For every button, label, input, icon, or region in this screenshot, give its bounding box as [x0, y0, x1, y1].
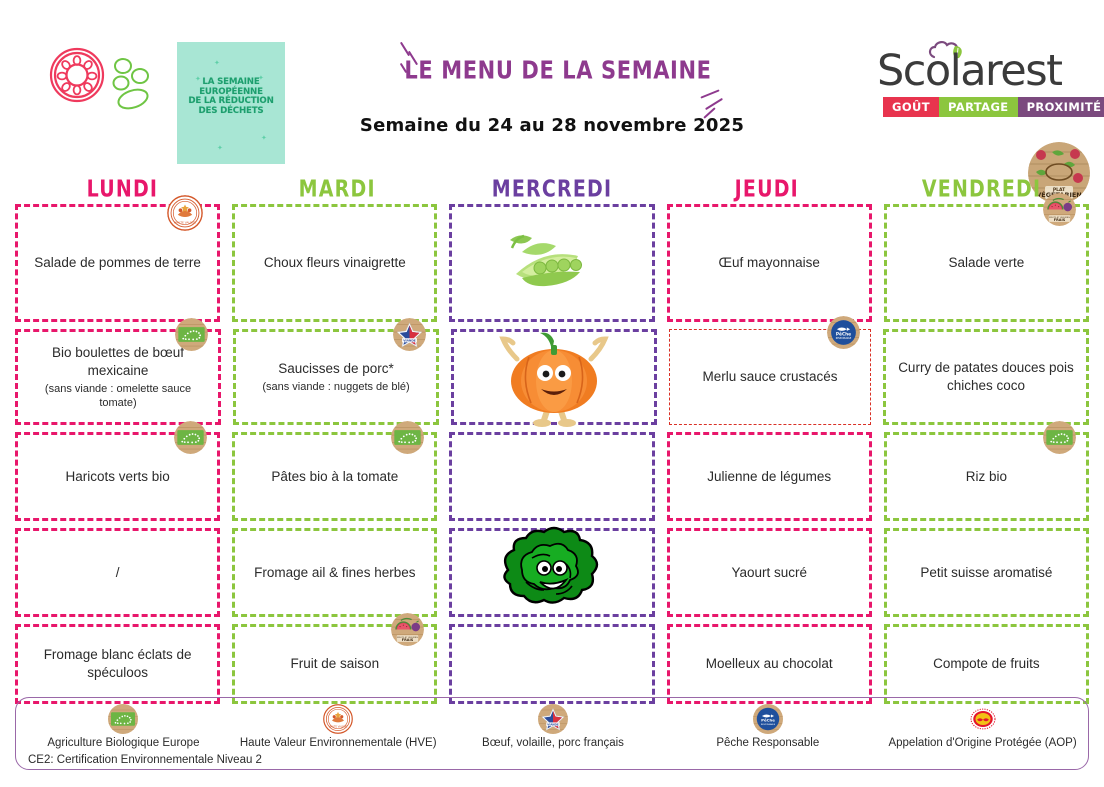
serd-poster: ✦ ✦ ✦ ✦ ✦ LA SEMAINE EUROPÉENNE DE LA RÉ… [177, 42, 285, 164]
menu-cell-mardi-2[interactable]: Saucisses de porc*(sans viande : nuggets… [233, 329, 439, 425]
menu-cell-jeudi-5[interactable]: Moelleux au chocolat [667, 624, 872, 704]
legend-note: CE2: Certification Environnementale Nive… [28, 754, 262, 766]
menu-cell-mercredi-2[interactable] [451, 329, 657, 425]
menu-cell-lundi-2[interactable]: Bio boulettes de bœuf mexicaine(sans via… [15, 329, 221, 425]
menu-row: Fromage blanc éclats de spéculoosFruit d… [15, 624, 1089, 704]
peche-responsable-icon: PêCheRESPONSABLE [827, 316, 860, 349]
logo-tag-gout: GOÛT [883, 97, 939, 117]
legend-item: Appelation d'Origine Protégée (AOP) [875, 704, 1090, 749]
legend-item: HAUTE VALEUR Haute Valeur Environnementa… [231, 704, 446, 749]
menu-grid: Salade de pommes de terreHAUTE VALEURCho… [15, 204, 1089, 688]
week-subtitle: Semaine du 24 au 28 novembre 2025 [288, 115, 816, 136]
menu-cell-mercredi-5[interactable] [449, 624, 654, 704]
hve-icon: HAUTE VALEUR [167, 195, 203, 231]
pumpkin-image [489, 323, 619, 432]
peche-responsable-icon: PêCheRESPONSABLE [749, 704, 787, 734]
poster-line: DES DÉCHETS [177, 107, 285, 117]
menu-item-text: Saucisses de porc*(sans viande : nuggets… [254, 360, 417, 394]
menu-item-text: Choux fleurs vinaigrette [256, 254, 414, 272]
legend-label: Pêche Responsable [660, 737, 875, 749]
menu-item-text: Riz bio [958, 468, 1015, 486]
poster-star-icon: ✦ [261, 134, 267, 142]
svg-text:RESPONSABLE: RESPONSABLE [836, 337, 852, 340]
poster-star-icon: ✦ [217, 144, 223, 152]
legend-item: Agriculture Biologique Europe [16, 704, 231, 749]
page-title: LE MENU DE LA SEMAINE [388, 56, 728, 84]
menu-item-text: Moelleux au chocolat [698, 655, 841, 673]
bio-icon [1043, 421, 1076, 454]
page-header: ✦ ✦ ✦ ✦ ✦ LA SEMAINE EUROPÉENNE DE LA RÉ… [0, 0, 1104, 170]
svg-text:PêChe: PêChe [761, 718, 775, 723]
menu-cell-mardi-1[interactable]: Choux fleurs vinaigrette [232, 204, 437, 322]
cabbage-image [488, 524, 616, 621]
pumpkin-image [489, 323, 619, 427]
svg-text:RESPONSABLE: RESPONSABLE [761, 723, 776, 726]
svg-text:HAUTE VALEUR: HAUTE VALEUR [174, 220, 196, 224]
hve-icon: HAUTE VALEUR [319, 704, 357, 734]
menu-cell-lundi-4[interactable]: / [15, 528, 220, 617]
menu-item-text: Yaourt sucré [723, 564, 815, 582]
frais-icon: FRUITS ET LÉGUMESFRAIS [1043, 193, 1076, 226]
frais-icon: FRUITS ET LÉGUMESFRAIS [391, 613, 424, 646]
logo-tagline: GOÛT PARTAGE PROXIMITÉ [883, 97, 1104, 117]
menu-cell-mardi-5[interactable]: Fruit de saisonFRUITS ET LÉGUMESFRAIS [232, 624, 437, 704]
svg-text:HAUTE VALEUR: HAUTE VALEUR [329, 726, 348, 729]
viande-francaise-icon: VIANDE [534, 704, 572, 734]
menu-item-subtext: (sans viande : omelette sauce tomate) [26, 382, 210, 410]
menu-cell-vendredi-2[interactable]: Curry de patates douces pois chiches coc… [883, 329, 1089, 425]
bio-icon [174, 421, 207, 454]
svg-text:FRAIS: FRAIS [1054, 218, 1066, 222]
svg-text:VIANDE: VIANDE [403, 339, 416, 343]
menu-cell-vendredi-4[interactable]: Petit suisse aromatisé [884, 528, 1089, 617]
menu-item-subtext: (sans viande : nuggets de blé) [262, 380, 409, 394]
menu-item-text: Haricots verts bio [57, 468, 177, 486]
menu-cell-mercredi-1[interactable] [449, 204, 654, 322]
menu-cell-jeudi-4[interactable]: Yaourt sucré [667, 528, 872, 617]
menu-cell-lundi-1[interactable]: Salade de pommes de terreHAUTE VALEUR [15, 204, 220, 322]
menu-row: Haricots verts bioPâtes bio à la tomateJ… [15, 432, 1089, 521]
menu-item-text: Pâtes bio à la tomate [263, 468, 406, 486]
menu-row: Salade de pommes de terreHAUTE VALEURCho… [15, 204, 1089, 322]
menu-item-text: Salade de pommes de terre [26, 254, 209, 272]
menu-item-text: Julienne de légumes [699, 468, 839, 486]
menu-cell-jeudi-2[interactable]: Merlu sauce crustacésPêCheRESPONSABLE [669, 329, 871, 425]
menu-cell-vendredi-1[interactable]: Salade verteFRUITS ET LÉGUMESFRAIS [884, 204, 1089, 322]
menu-item-text: Fromage ail & fines herbes [246, 564, 423, 582]
legend-label: Bœuf, volaille, porc français [446, 737, 661, 749]
svg-text:VIANDE: VIANDE [547, 722, 559, 726]
legend-item: PêCheRESPONSABLE Pêche Responsable [660, 704, 875, 749]
svg-text:FRAIS: FRAIS [402, 638, 414, 642]
menu-cell-vendredi-5[interactable]: Compote de fruits [884, 624, 1089, 704]
menu-cell-mardi-4[interactable]: Fromage ail & fines herbes [232, 528, 437, 617]
menu-item-text: Petit suisse aromatisé [912, 564, 1060, 582]
aop-icon [964, 704, 1002, 734]
menu-item-text: Fruit de saison [283, 655, 388, 673]
legend-label: Agriculture Biologique Europe [16, 737, 231, 749]
menu-row: /Fromage ail & fines herbesYaourt sucréP… [15, 528, 1089, 617]
menu-cell-jeudi-3[interactable]: Julienne de légumes [667, 432, 872, 521]
tomato-pea-decoration-icon [45, 42, 160, 117]
legend-label: Haute Valeur Environnementale (HVE) [231, 737, 446, 749]
title-block: LE MENU DE LA SEMAINE [388, 58, 728, 94]
bio-icon [104, 704, 142, 734]
poster-star-icon: ✦ [214, 59, 220, 67]
scolarest-logo: Scolarest GOÛT PARTAGE PROXIMITÉ [877, 40, 1067, 118]
bio-icon [175, 318, 208, 351]
menu-item-text: Salade verte [941, 254, 1033, 272]
menu-row: Bio boulettes de bœuf mexicaine(sans via… [15, 329, 1089, 425]
legend-label: Appelation d'Origine Protégée (AOP) [875, 737, 1090, 749]
menu-item-text: Merlu sauce crustacés [694, 368, 845, 386]
menu-item-text: Curry de patates douces pois chiches coc… [886, 359, 1086, 395]
logo-wordmark: Scolarest [877, 46, 1062, 96]
legend-items: Agriculture Biologique Europe HAUTE VALE… [16, 704, 1090, 749]
cabbage-image [488, 524, 616, 616]
menu-item-text: Œuf mayonnaise [711, 254, 828, 272]
menu-item-text: Bio boulettes de bœuf mexicaine(sans via… [18, 344, 218, 410]
logo-tag-proximite: PROXIMITÉ [1018, 97, 1104, 117]
peas-image [492, 222, 612, 305]
menu-cell-mardi-3[interactable]: Pâtes bio à la tomate [232, 432, 437, 521]
viande-francaise-icon: VIANDE [393, 318, 426, 351]
legend-panel: Agriculture Biologique Europe HAUTE VALE… [15, 697, 1089, 770]
bio-icon [391, 421, 424, 454]
legend-item: VIANDE Bœuf, volaille, porc français [446, 704, 661, 749]
menu-cell-mercredi-4[interactable] [449, 528, 654, 617]
menu-item-text: / [108, 564, 128, 582]
menu-item-text: Fromage blanc éclats de spéculoos [18, 646, 217, 682]
menu-cell-mercredi-3[interactable] [449, 432, 654, 521]
poster-text: LA SEMAINE EUROPÉENNE DE LA RÉDUCTION DE… [177, 78, 285, 116]
menu-cell-lundi-3[interactable]: Haricots verts bio [15, 432, 220, 521]
logo-tag-partage: PARTAGE [939, 97, 1018, 117]
menu-item-text: Compote de fruits [925, 655, 1048, 673]
menu-cell-jeudi-1[interactable]: Œuf mayonnaise [667, 204, 872, 322]
peas-image [492, 222, 612, 300]
menu-cell-lundi-5[interactable]: Fromage blanc éclats de spéculoos [15, 624, 220, 704]
menu-cell-vendredi-3[interactable]: Riz bio [884, 432, 1089, 521]
